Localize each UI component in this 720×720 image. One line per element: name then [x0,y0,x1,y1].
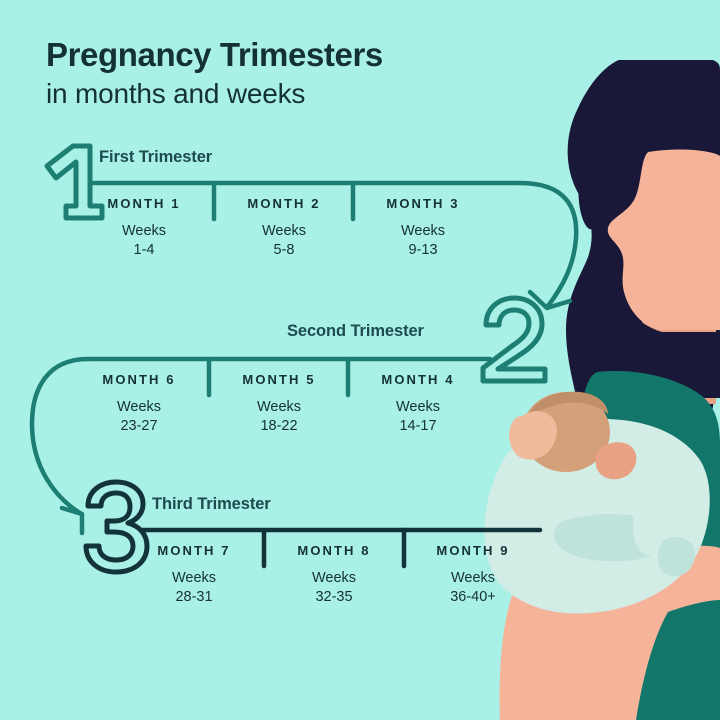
pregnancy-trimesters-infographic: Pregnancy Trimesters in months and weeks… [0,0,720,720]
trimester-1-title: First Trimester [99,148,212,167]
infographic-text-layer: Pregnancy Trimesters in months and weeks… [0,0,720,720]
month-label: MONTH 8 [274,543,394,558]
month-label: MONTH 6 [79,372,199,387]
weeks-word: Weeks [358,398,478,417]
weeks-word: Weeks [134,569,254,588]
weeks-range: 32-35 [274,588,394,607]
weeks-word: Weeks [274,569,394,588]
weeks-range: 18-22 [219,417,339,436]
month-cell-5: MONTH 5 Weeks 18-22 [219,372,339,436]
weeks-range: 36-40+ [413,588,533,607]
month-cell-4: MONTH 4 Weeks 14-17 [358,372,478,436]
trimester-2-title: Second Trimester [287,322,424,341]
month-cell-9: MONTH 9 Weeks 36-40+ [413,543,533,607]
page-title: Pregnancy Trimesters in months and weeks [46,36,383,111]
month-label: MONTH 1 [84,196,204,211]
month-cell-8: MONTH 8 Weeks 32-35 [274,543,394,607]
month-cell-3: MONTH 3 Weeks 9-13 [363,196,483,260]
month-label: MONTH 9 [413,543,533,558]
page-title-line1: Pregnancy Trimesters [46,36,383,74]
weeks-word: Weeks [224,222,344,241]
month-cell-1: MONTH 1 Weeks 1-4 [84,196,204,260]
weeks-range: 9-13 [363,241,483,260]
month-label: MONTH 7 [134,543,254,558]
weeks-word: Weeks [79,398,199,417]
trimester-3-title: Third Trimester [152,495,271,514]
month-cell-2: MONTH 2 Weeks 5-8 [224,196,344,260]
weeks-word: Weeks [219,398,339,417]
month-cell-6: MONTH 6 Weeks 23-27 [79,372,199,436]
month-label: MONTH 4 [358,372,478,387]
page-title-line2: in months and weeks [46,77,383,111]
weeks-word: Weeks [363,222,483,241]
weeks-word: Weeks [413,569,533,588]
weeks-range: 1-4 [84,241,204,260]
weeks-range: 23-27 [79,417,199,436]
weeks-word: Weeks [84,222,204,241]
weeks-range: 28-31 [134,588,254,607]
weeks-range: 5-8 [224,241,344,260]
month-label: MONTH 2 [224,196,344,211]
month-label: MONTH 3 [363,196,483,211]
month-label: MONTH 5 [219,372,339,387]
weeks-range: 14-17 [358,417,478,436]
month-cell-7: MONTH 7 Weeks 28-31 [134,543,254,607]
